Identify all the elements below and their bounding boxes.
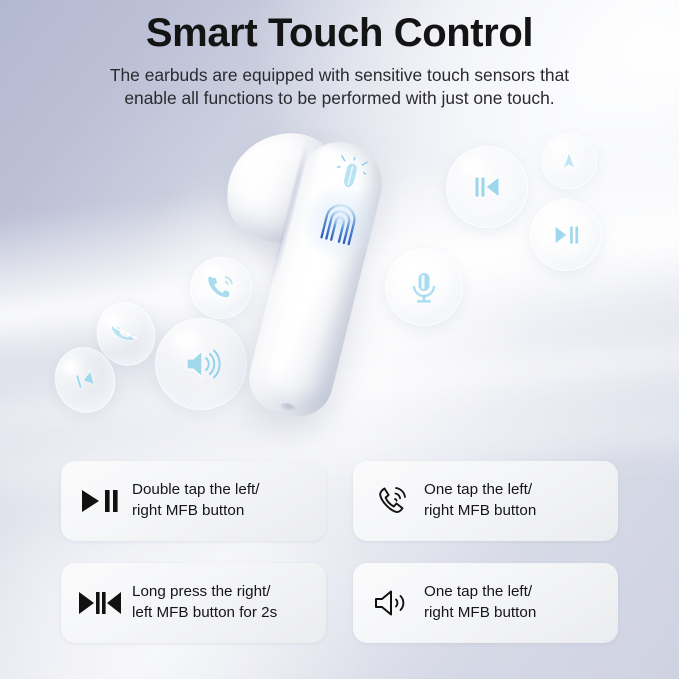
card-line-2: left MFB button for 2s <box>132 603 277 624</box>
phone-call-icon <box>205 272 237 304</box>
card-row-2: Long press the right/ left MFB button fo… <box>61 563 618 643</box>
card-answer-call[interactable]: One tap the left/ right MFB button <box>353 461 618 541</box>
card-line-2: right MFB button <box>424 501 536 522</box>
card-line-2: right MFB button <box>132 501 260 522</box>
phone-call-icon <box>369 478 415 524</box>
card-line-1: One tap the left/ <box>424 582 536 603</box>
page-title: Smart Touch Control <box>0 12 679 55</box>
previous-track-icon <box>68 363 103 398</box>
play-pause-icon <box>548 217 584 253</box>
card-play-pause[interactable]: Double tap the left/ right MFB button <box>61 461 326 541</box>
speaker-volume-icon <box>178 341 224 387</box>
card-volume[interactable]: One tap the left/ right MFB button <box>353 563 618 643</box>
page-subtitle: The earbuds are equipped with sensitive … <box>0 64 679 110</box>
card-line-1: Double tap the left/ <box>132 480 260 501</box>
card-line-2: right MFB button <box>424 603 536 624</box>
card-text: Double tap the left/ right MFB button <box>132 480 260 521</box>
card-line-1: One tap the left/ <box>424 480 536 501</box>
call-end-icon <box>107 315 145 353</box>
card-text: Long press the right/ left MFB button fo… <box>132 582 277 623</box>
subtitle-line-1: The earbuds are equipped with sensitive … <box>0 64 679 87</box>
card-track-skip[interactable]: Long press the right/ left MFB button fo… <box>61 563 326 643</box>
next-previous-track-icon <box>77 580 123 626</box>
bubble-previous-track <box>446 146 528 228</box>
card-text: One tap the left/ right MFB button <box>424 582 536 623</box>
previous-track-icon <box>467 167 507 207</box>
speaker-volume-icon <box>369 580 415 626</box>
card-text: One tap the left/ right MFB button <box>424 480 536 521</box>
card-row-1: Double tap the left/ right MFB button <box>61 461 618 541</box>
bubble-volume-up <box>541 133 597 189</box>
instruction-cards: Double tap the left/ right MFB button <box>61 461 618 665</box>
bubble-play-pause <box>530 199 602 271</box>
volume-up-icon <box>556 148 582 174</box>
header: Smart Touch Control The earbuds are equi… <box>0 0 679 110</box>
subtitle-line-2: enable all functions to be performed wit… <box>0 87 679 110</box>
microphone-icon <box>404 267 444 307</box>
infographic-stage: Smart Touch Control The earbuds are equi… <box>0 0 679 679</box>
card-line-1: Long press the right/ <box>132 582 277 603</box>
play-pause-icon <box>77 478 123 524</box>
